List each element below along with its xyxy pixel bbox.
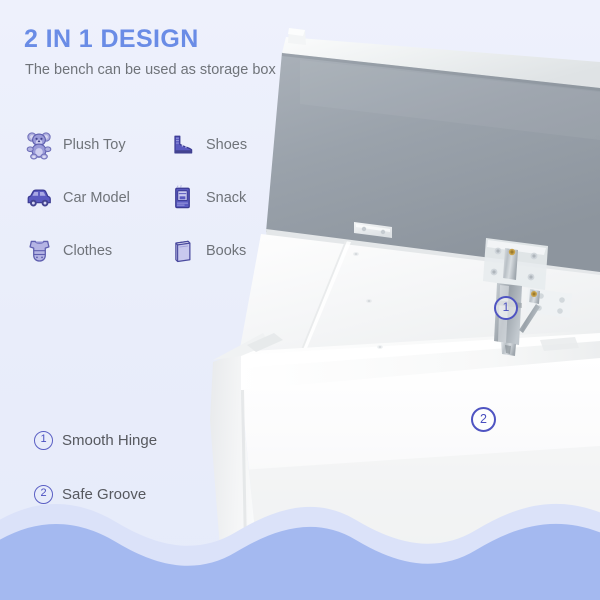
feature-label: Books: [206, 243, 246, 259]
car-model-icon: [22, 181, 56, 215]
feature-item-books: Books: [165, 234, 284, 268]
legend-list: 1 Smooth Hinge 2 Safe Groove: [34, 425, 157, 533]
feature-label: Car Model: [63, 190, 130, 206]
feature-item-clothes: Clothes: [22, 234, 165, 268]
legend-number: 1: [34, 431, 53, 450]
feature-list: Plush Toy Shoes: [22, 118, 284, 277]
callout-marker-1: 1: [494, 296, 518, 320]
legend-item-smooth-hinge: 1 Smooth Hinge: [34, 425, 157, 455]
promo-image: 2 IN 1 DESIGN The bench can be used as s…: [0, 0, 600, 600]
shoes-icon: [165, 128, 199, 162]
feature-label: Clothes: [63, 243, 112, 259]
feature-item-plush-toy: Plush Toy: [22, 128, 165, 162]
feature-row: Plush Toy Shoes: [22, 118, 284, 171]
page-title: 2 IN 1 DESIGN: [24, 25, 199, 54]
page-subtitle: The bench can be used as storage box: [25, 62, 276, 78]
feature-row: Car Model Snack: [22, 171, 284, 224]
legend-item-safe-groove: 2 Safe Groove: [34, 479, 157, 509]
legend-number: 2: [34, 485, 53, 504]
books-icon: [165, 234, 199, 268]
feature-item-shoes: Shoes: [165, 128, 284, 162]
feature-row: Clothes Books: [22, 224, 284, 277]
callout-marker-2: 2: [471, 407, 496, 432]
feature-label: Snack: [206, 190, 246, 206]
feature-label: Plush Toy: [63, 137, 126, 153]
clothes-icon: [22, 234, 56, 268]
feature-item-car-model: Car Model: [22, 181, 165, 215]
legend-label: Safe Groove: [62, 486, 146, 503]
feature-label: Shoes: [206, 137, 247, 153]
feature-item-snack: Snack: [165, 181, 284, 215]
snack-icon: [165, 181, 199, 215]
legend-label: Smooth Hinge: [62, 432, 157, 449]
plush-toy-icon: [22, 128, 56, 162]
